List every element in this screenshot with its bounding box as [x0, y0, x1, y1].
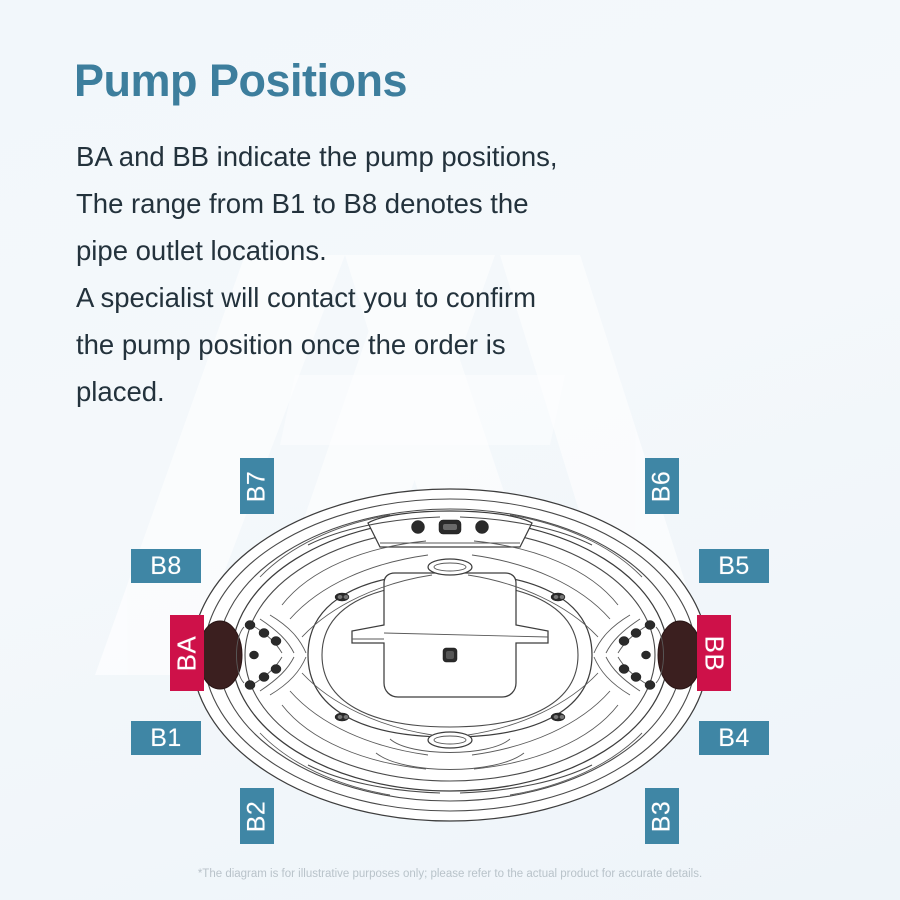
- outlet-label-b6-text: B6: [648, 470, 677, 502]
- outlet-label-b8-text: B8: [150, 552, 182, 581]
- intro-line-2: The range from B1 to B8 denotes the: [76, 180, 806, 227]
- outlet-label-b5[interactable]: B5: [699, 549, 769, 583]
- outlet-label-b1[interactable]: B1: [131, 721, 201, 755]
- outlet-label-b2[interactable]: B2: [240, 788, 274, 844]
- outlet-label-b2-text: B2: [243, 800, 272, 832]
- intro-line-4: A specialist will contact you to confirm: [76, 274, 806, 321]
- intro-line-1: BA and BB indicate the pump positions,: [76, 133, 806, 180]
- outlet-label-b4-text: B4: [718, 724, 750, 753]
- pump-label-bb[interactable]: BB: [697, 615, 731, 691]
- pump-label-ba-text: BA: [172, 635, 203, 671]
- outlet-label-b5-text: B5: [718, 552, 750, 581]
- outlet-label-b3[interactable]: B3: [645, 788, 679, 844]
- intro-line-3: pipe outlet locations.: [76, 227, 806, 274]
- hot-tub-top-view-diagram: .ln { fill:#ffffff; stroke:#3d3d3d; stro…: [190, 485, 710, 825]
- page-title: Pump Positions: [74, 55, 407, 107]
- disclaimer-note: *The diagram is for illustrative purpose…: [0, 868, 900, 880]
- intro-line-5: the pump position once the order is: [76, 321, 806, 368]
- outlet-label-b1-text: B1: [150, 724, 182, 753]
- pump-label-bb-text: BB: [699, 635, 730, 671]
- spa-diagram-area: .ln { fill:#ffffff; stroke:#3d3d3d; stro…: [0, 440, 900, 850]
- outlet-label-b4[interactable]: B4: [699, 721, 769, 755]
- outlet-label-b7[interactable]: B7: [240, 458, 274, 514]
- outlet-label-b7-text: B7: [243, 470, 272, 502]
- intro-line-6: placed.: [76, 368, 806, 415]
- outlet-label-b8[interactable]: B8: [131, 549, 201, 583]
- outlet-label-b6[interactable]: B6: [645, 458, 679, 514]
- outlet-label-b3-text: B3: [648, 800, 677, 832]
- intro-paragraph: BA and BB indicate the pump positions, T…: [76, 133, 806, 415]
- pump-label-ba[interactable]: BA: [170, 615, 204, 691]
